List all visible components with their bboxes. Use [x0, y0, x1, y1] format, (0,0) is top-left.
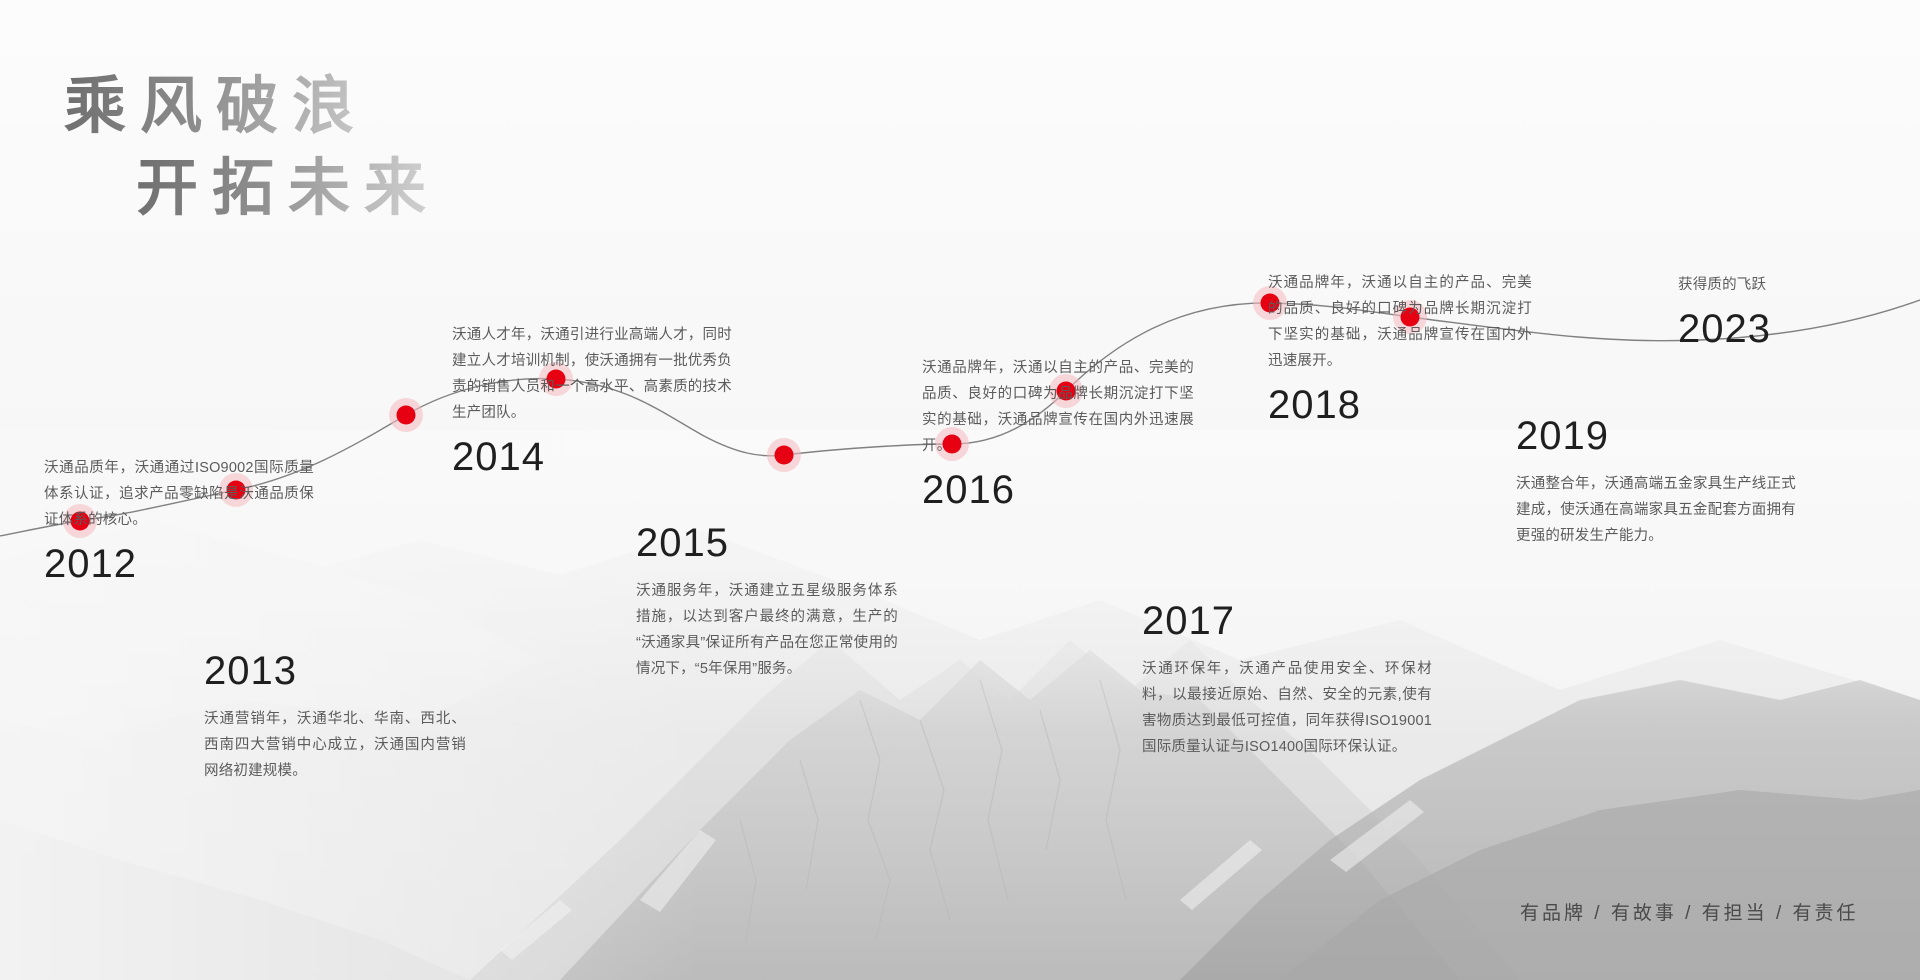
page-title: 乘风破浪 开拓未来: [64, 66, 704, 236]
timeline-entry-2019[interactable]: 2019 沃通整合年，沃通高端五金家具生产线正式建成，使沃通在高端家具五金配套方…: [1516, 415, 1796, 549]
entry-year-label: 2016: [922, 469, 1194, 511]
timeline-entry-2012[interactable]: 沃通品质年，沃通通过ISO9002国际质量体系认证，追求产品零缺陷是沃通品质保证…: [44, 455, 314, 585]
timeline-dot-2016[interactable]: [767, 438, 801, 472]
infographic-canvas: 乘风破浪 开拓未来: [0, 0, 1920, 980]
entry-description: 沃通营销年，沃通华北、华南、西北、西南四大营销中心成立，沃通国内营销网络初建规模…: [204, 706, 466, 784]
timeline-entry-2017[interactable]: 2017 沃通环保年，沃通产品使用安全、环保材料，以最接近原始、自然、安全的元素…: [1142, 600, 1432, 760]
footer-slogan: 有品牌 / 有故事 / 有担当 / 有责任: [1520, 898, 1859, 925]
entry-description: 沃通品牌年，沃通以自主的产品、完美的品质、良好的口碑为品牌长期沉淀打下坚实的基础…: [1268, 270, 1532, 374]
timeline-entry-2015[interactable]: 2015 沃通服务年，沃通建立五星级服务体系措施，以达到客户最终的满意，生产的“…: [636, 522, 898, 682]
timeline-entry-2014[interactable]: 沃通人才年，沃通引进行业高端人才，同时建立人才培训机制，使沃通拥有一批优秀负责的…: [452, 322, 732, 478]
entry-year-label: 2014: [452, 436, 732, 478]
entry-year-label: 2013: [204, 650, 466, 692]
timeline-entry-2023[interactable]: 获得质的飞跃 2023: [1678, 272, 1878, 350]
entry-description: 沃通整合年，沃通高端五金家具生产线正式建成，使沃通在高端家具五金配套方面拥有更强…: [1516, 471, 1796, 549]
headline-line-2: 开拓未来: [136, 148, 704, 230]
headline-line-1: 乘风破浪: [64, 66, 704, 148]
entry-description: 沃通环保年，沃通产品使用安全、环保材料，以最接近原始、自然、安全的元素,使有害物…: [1142, 656, 1432, 760]
timeline-entry-2013[interactable]: 2013 沃通营销年，沃通华北、华南、西北、西南四大营销中心成立，沃通国内营销网…: [204, 650, 466, 784]
entry-year-label: 2015: [636, 522, 898, 564]
timeline-entry-2016[interactable]: 沃通品牌年，沃通以自主的产品、完美的品质、良好的口碑为品牌长期沉淀打下坚实的基础…: [922, 355, 1194, 511]
entry-year-label: 2023: [1678, 308, 1878, 350]
entry-year-label: 2019: [1516, 415, 1796, 457]
entry-year-label: 2017: [1142, 600, 1432, 642]
timeline-entry-2018[interactable]: 沃通品牌年，沃通以自主的产品、完美的品质、良好的口碑为品牌长期沉淀打下坚实的基础…: [1268, 270, 1532, 426]
timeline-dot-2014[interactable]: [389, 398, 423, 432]
entry-description: 沃通品牌年，沃通以自主的产品、完美的品质、良好的口碑为品牌长期沉淀打下坚实的基础…: [922, 355, 1194, 459]
entry-description: 沃通服务年，沃通建立五星级服务体系措施，以达到客户最终的满意，生产的“沃通家具”…: [636, 578, 898, 682]
entry-year-label: 2012: [44, 543, 314, 585]
entry-description: 沃通人才年，沃通引进行业高端人才，同时建立人才培训机制，使沃通拥有一批优秀负责的…: [452, 322, 732, 426]
entry-description: 沃通品质年，沃通通过ISO9002国际质量体系认证，追求产品零缺陷是沃通品质保证…: [44, 455, 314, 533]
entry-description: 获得质的飞跃: [1678, 272, 1878, 298]
entry-year-label: 2018: [1268, 384, 1532, 426]
